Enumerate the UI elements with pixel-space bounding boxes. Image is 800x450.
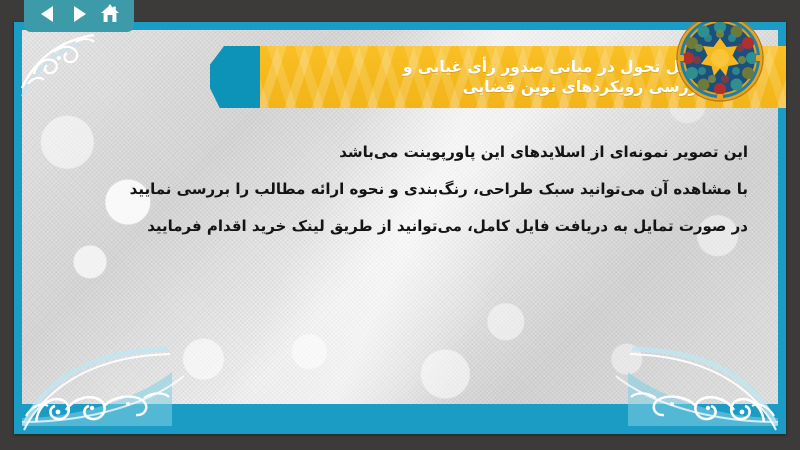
previous-slide-button[interactable]	[35, 1, 61, 27]
home-button[interactable]	[97, 1, 123, 27]
triangle-right-icon	[69, 4, 89, 24]
slide-viewer: کامل تحول در مبانی صدور رأی غیابی و بررس…	[0, 0, 800, 450]
presentation-slide: کامل تحول در مبانی صدور رأی غیابی و بررس…	[14, 22, 786, 434]
body-line: با مشاهده آن می‌توانید سبک طراحی، رنگ‌بن…	[54, 171, 748, 208]
body-line: این تصویر نمونه‌ای از اسلایدهای این پاور…	[54, 134, 748, 171]
home-icon	[99, 4, 121, 24]
next-slide-button[interactable]	[66, 1, 92, 27]
triangle-left-icon	[38, 4, 58, 24]
body-line: در صورت تمایل به دریافت فایل کامل، می‌تو…	[54, 208, 748, 245]
slide-body-text: این تصویر نمونه‌ای از اسلایدهای این پاور…	[54, 134, 748, 244]
slide-navigation-bar	[24, 0, 134, 32]
persian-medallion-ornament	[676, 22, 764, 102]
